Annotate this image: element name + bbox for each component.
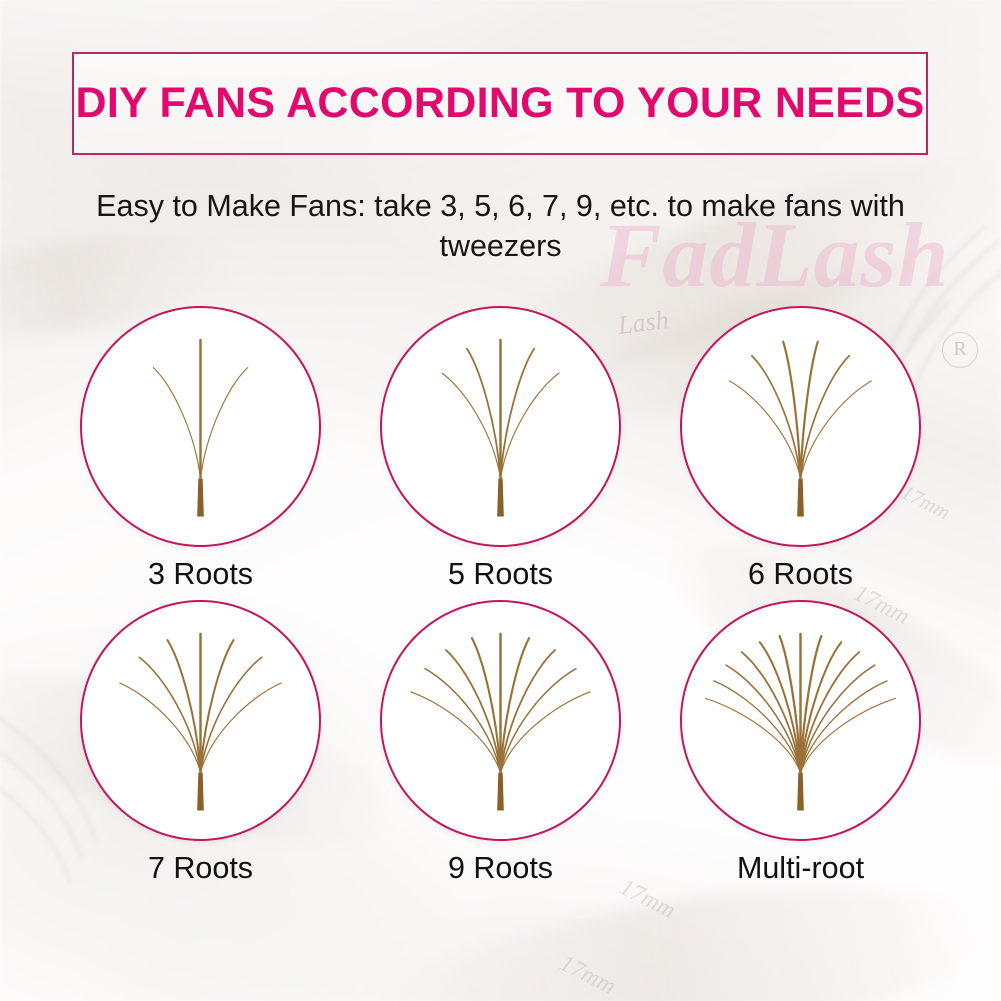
fan-cell: 9 Roots: [377, 600, 625, 886]
fan-cell: 3 Roots: [77, 306, 325, 592]
fan-cell: 5 Roots: [377, 306, 625, 592]
fan-circle-1: [380, 306, 621, 547]
fan-circle-3: [80, 600, 321, 841]
fan-circle-5: [680, 600, 921, 841]
fan-row-bottom: 7 Roots 9 Roots Multi-root: [0, 600, 1001, 886]
infographic-page: FadLash Lash R 17mm 17mm 17mm 17mm DIY F…: [0, 0, 1001, 1001]
fan-label-1: 5 Roots: [448, 557, 553, 592]
title-box: DIY FANS ACCORDING TO YOUR NEEDS: [72, 52, 928, 155]
fan-circle-2: [680, 306, 921, 547]
fan-row-top: 3 Roots 5 Roots 6 Roots: [0, 306, 1001, 592]
fan-label-0: 3 Roots: [148, 557, 253, 592]
fan-cell: Multi-root: [677, 600, 925, 886]
fan-grid: 3 Roots 5 Roots 6 Roots 7 Roots 9 Roots: [0, 306, 1001, 894]
fan-cell: 6 Roots: [677, 306, 925, 592]
fan-label-4: 9 Roots: [448, 851, 553, 886]
fan-label-3: 7 Roots: [148, 851, 253, 886]
fan-cell: 7 Roots: [77, 600, 325, 886]
fan-label-5: Multi-root: [737, 851, 864, 886]
fan-label-2: 6 Roots: [748, 557, 853, 592]
fan-circle-0: [80, 306, 321, 547]
page-title: DIY FANS ACCORDING TO YOUR NEEDS: [75, 79, 924, 128]
fan-circle-4: [380, 600, 621, 841]
page-subtitle: Easy to Make Fans: take 3, 5, 6, 7, 9, e…: [90, 186, 911, 266]
